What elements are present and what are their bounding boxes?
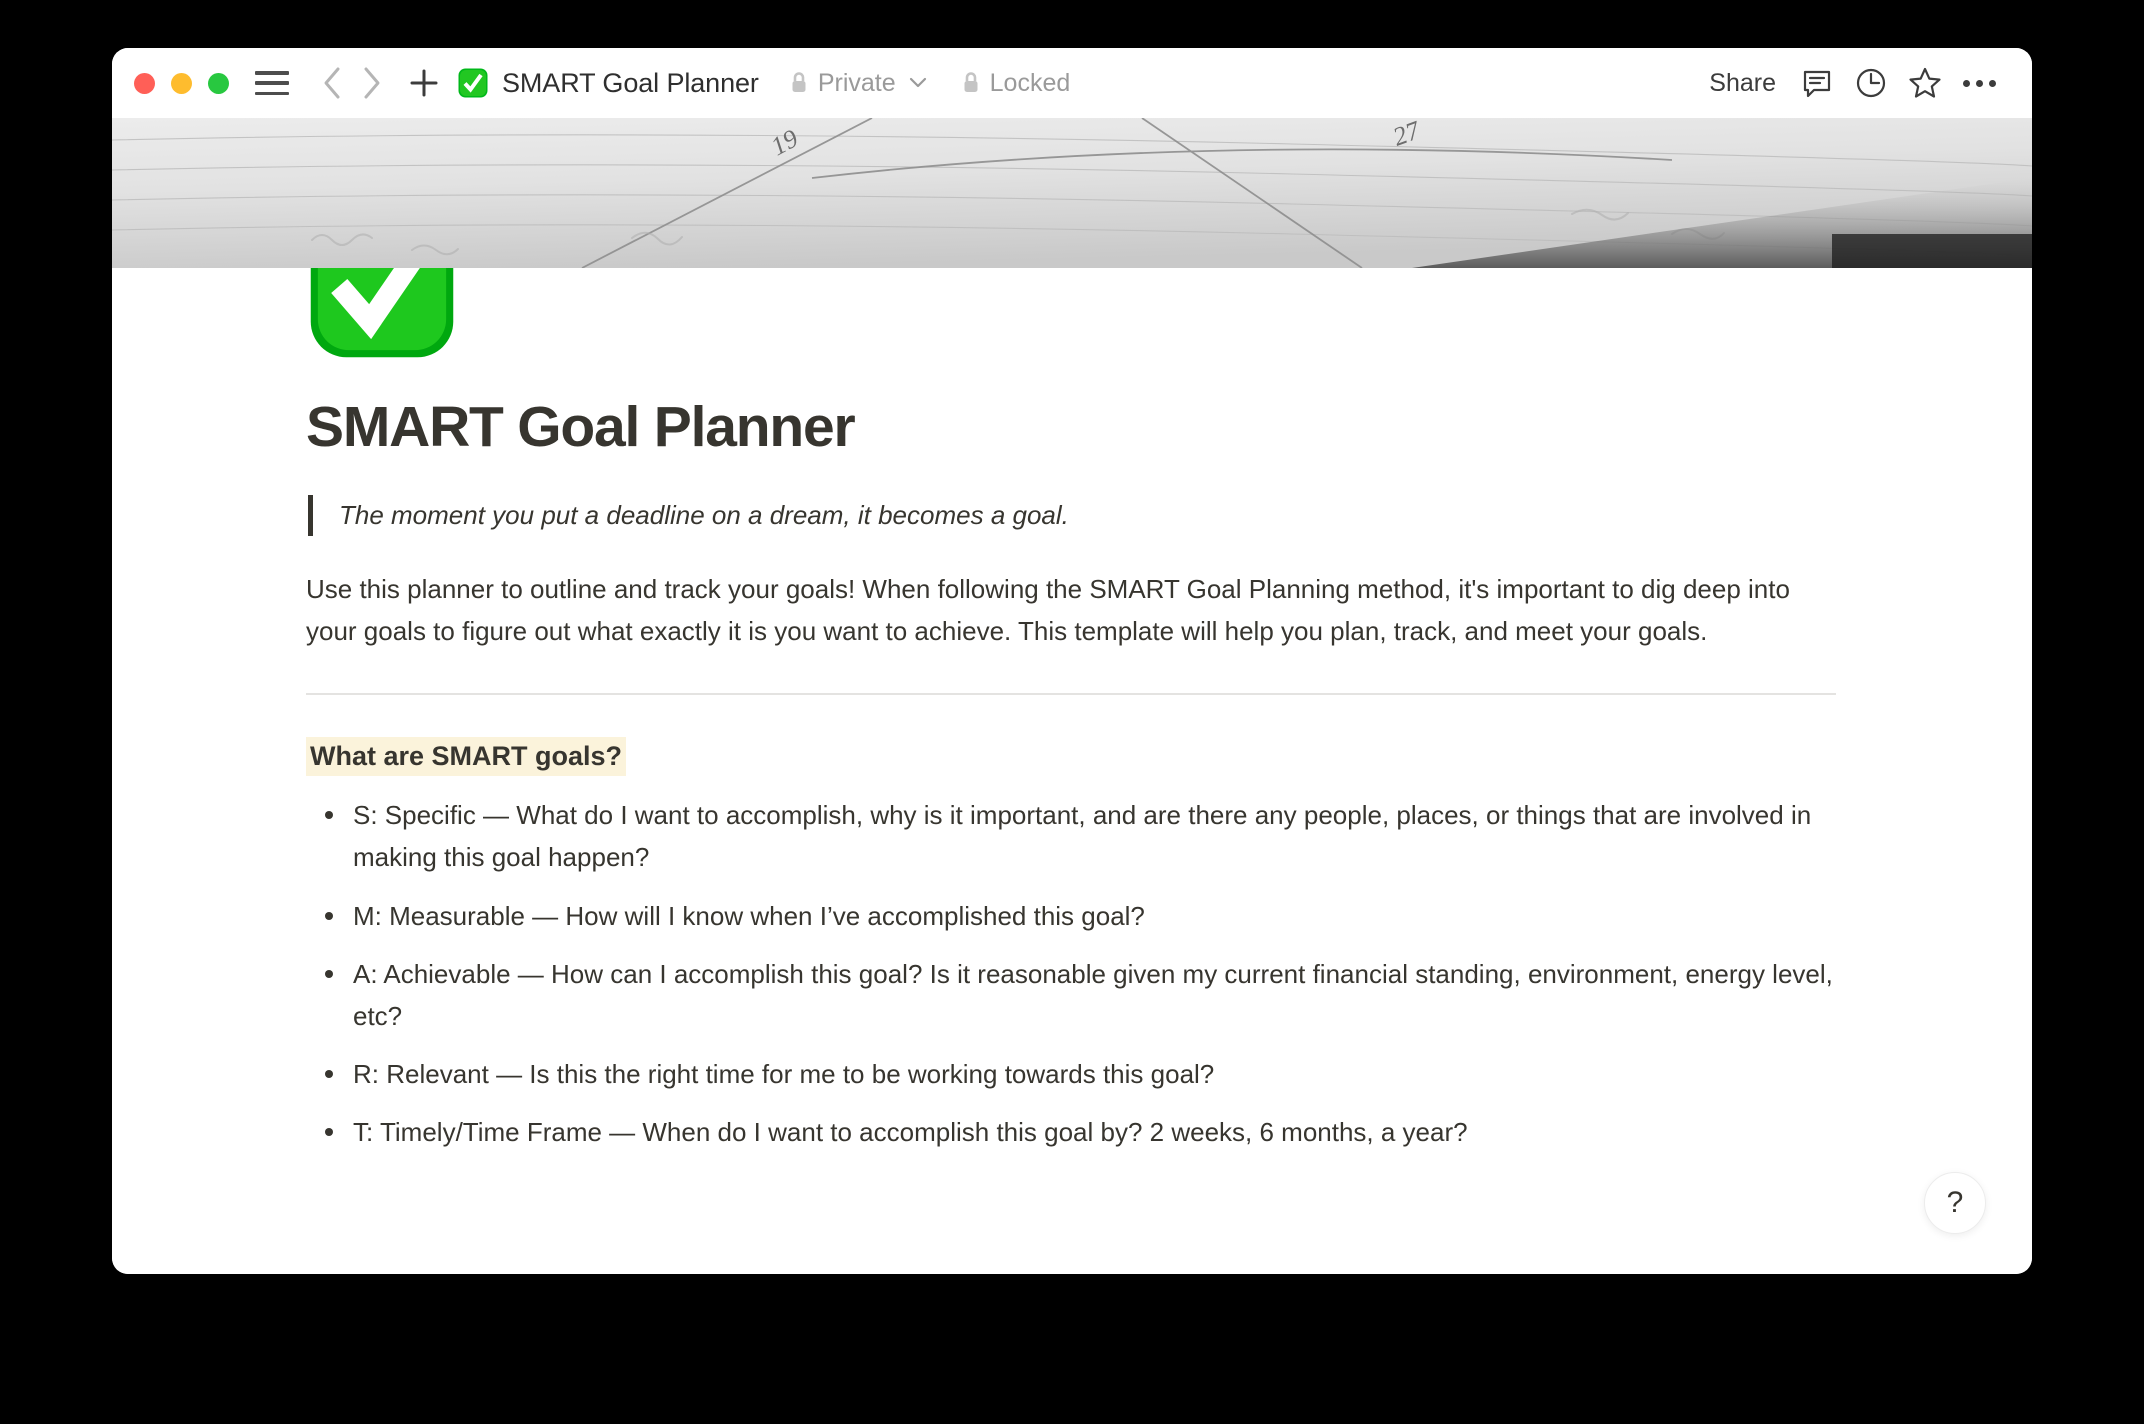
chevron-left-icon[interactable] <box>315 66 349 100</box>
share-button[interactable]: Share <box>1695 63 1790 104</box>
locked-status[interactable]: Locked <box>961 69 1071 98</box>
title-bar: SMART Goal Planner Private Locked Share <box>112 48 2032 118</box>
white-check-mark-emoji-tab-icon <box>457 67 489 99</box>
list-item[interactable]: S: Specific — What do I want to accompli… <box>306 794 1836 878</box>
quote-bar <box>308 495 313 537</box>
locked-label: Locked <box>990 69 1071 98</box>
comment-icon[interactable] <box>1790 59 1844 107</box>
plus-icon[interactable] <box>405 64 443 102</box>
close-window-button[interactable] <box>134 73 155 94</box>
lock-icon <box>789 70 809 96</box>
tab-title[interactable]: SMART Goal Planner <box>502 68 759 99</box>
cover-image[interactable]: 19 27 <box>112 118 2032 268</box>
maximize-window-button[interactable] <box>208 73 229 94</box>
traffic-lights <box>134 73 229 94</box>
smart-goals-list: S: Specific — What do I want to accompli… <box>306 794 1836 1153</box>
star-icon[interactable] <box>1898 59 1952 107</box>
document-content: SMART Goal Planner The moment you put a … <box>306 396 1836 1169</box>
notebook-photo: 19 27 <box>112 118 2032 268</box>
intro-paragraph[interactable]: Use this planner to outline and track yo… <box>306 568 1804 652</box>
minimize-window-button[interactable] <box>171 73 192 94</box>
quote-block[interactable]: The moment you put a deadline on a dream… <box>306 495 1836 537</box>
list-item[interactable]: A: Achievable — How can I accomplish thi… <box>306 953 1836 1037</box>
page-title[interactable]: SMART Goal Planner <box>306 396 1836 459</box>
chevron-down-icon <box>909 77 927 89</box>
ellipsis-icon[interactable] <box>1952 59 2006 107</box>
divider <box>306 693 1836 695</box>
list-item[interactable]: R: Relevant — Is this the right time for… <box>306 1053 1836 1095</box>
help-button[interactable]: ? <box>1924 1172 1986 1234</box>
quote-text: The moment you put a deadline on a dream… <box>339 495 1069 537</box>
list-item[interactable]: M: Measurable — How will I know when I’v… <box>306 895 1836 937</box>
page-body: SMART Goal Planner The moment you put a … <box>112 268 2032 1274</box>
titlebar-actions: Share <box>1695 48 2006 118</box>
lock-icon <box>961 70 981 96</box>
app-window: SMART Goal Planner Private Locked Share <box>112 48 2032 1274</box>
privacy-selector[interactable]: Private <box>789 69 927 98</box>
list-item[interactable]: T: Timely/Time Frame — When do I want to… <box>306 1111 1836 1153</box>
privacy-label: Private <box>818 69 896 98</box>
chevron-right-icon[interactable] <box>355 66 389 100</box>
hamburger-icon[interactable] <box>255 71 289 95</box>
white-check-mark-emoji-page-icon[interactable] <box>306 268 458 362</box>
clock-icon[interactable] <box>1844 59 1898 107</box>
section-heading[interactable]: What are SMART goals? <box>306 737 626 777</box>
